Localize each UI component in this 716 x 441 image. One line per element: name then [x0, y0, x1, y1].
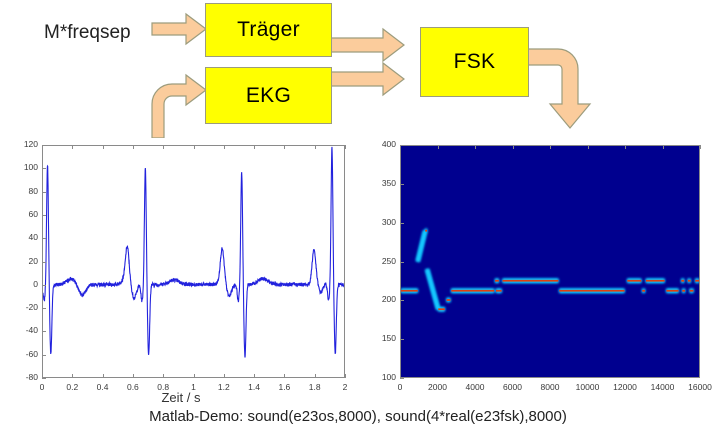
ecg-xtick-1: 1 [180, 382, 208, 392]
ecg-x-axis-title: Zeit / s [0, 390, 362, 405]
ecg-xtick-0.8: 0.8 [149, 382, 177, 392]
ecg-polyline [43, 147, 344, 358]
ecg-xtick-1.4: 1.4 [240, 382, 268, 392]
ecg-xtick-0.6: 0.6 [119, 382, 147, 392]
tick-mark [42, 355, 46, 356]
tick-mark [254, 374, 255, 378]
ecg-xtick-1.6: 1.6 [270, 382, 298, 392]
spectrogram-trace [401, 146, 699, 377]
tick-mark [103, 145, 104, 149]
spectrogram-plot-area [400, 145, 700, 378]
tick-mark [284, 374, 285, 378]
spec-xtick-10000: 10000 [570, 382, 606, 392]
tick-mark [72, 374, 73, 378]
block-diagram: M*freqsep Träger EKG FSK [0, 0, 716, 138]
tick-mark [700, 145, 701, 149]
ecg-ytick-0: 0 [6, 279, 38, 289]
spectrogram-figure: 4003503002502001501000200040006000800010… [372, 138, 716, 404]
ecg-xtick-1.8: 1.8 [301, 382, 329, 392]
tick-mark [194, 374, 195, 378]
spec-ytick-350: 350 [370, 178, 396, 188]
spec-xtick-0: 0 [382, 382, 418, 392]
tick-mark [400, 184, 404, 185]
tick-mark [400, 378, 404, 379]
tick-mark [194, 145, 195, 149]
tick-mark [42, 262, 46, 263]
spectrogram-halo [401, 231, 699, 310]
ecg-ytick--40: -40 [6, 325, 38, 335]
tick-mark [42, 145, 43, 149]
spec-ytick-200: 200 [370, 294, 396, 304]
tick-mark [284, 145, 285, 149]
arrow-input-traeger [152, 14, 206, 44]
ecg-ytick-40: 40 [6, 232, 38, 242]
ecg-ytick-100: 100 [6, 162, 38, 172]
tick-mark [475, 145, 476, 149]
spec-ytick-300: 300 [370, 217, 396, 227]
tick-mark [513, 145, 514, 149]
arrow-ekg-fsk [330, 63, 404, 95]
ecg-xtick-1.2: 1.2 [210, 382, 238, 392]
tick-mark [224, 145, 225, 149]
ecg-xtick-2: 2 [331, 382, 359, 392]
spec-xtick-16000: 16000 [682, 382, 716, 392]
spec-xtick-2000: 2000 [420, 382, 456, 392]
tick-mark [42, 331, 46, 332]
tick-mark [163, 374, 164, 378]
tick-mark [400, 145, 401, 149]
tick-mark [438, 145, 439, 149]
arrow-traeger-fsk [330, 29, 404, 61]
arrow-curved-ekg [152, 75, 206, 138]
ecg-ytick-120: 120 [6, 139, 38, 149]
spec-ytick-400: 400 [370, 139, 396, 149]
tick-mark [163, 145, 164, 149]
tick-mark [103, 374, 104, 378]
tick-mark [315, 374, 316, 378]
ecg-ytick--60: -60 [6, 349, 38, 359]
ecg-xtick-0.4: 0.4 [89, 382, 117, 392]
input-label: M*freqsep [44, 22, 131, 44]
spec-xtick-14000: 14000 [645, 382, 681, 392]
ecg-xtick-0: 0 [28, 382, 56, 392]
tick-mark [663, 145, 664, 149]
tick-mark [42, 215, 46, 216]
ecg-ytick-60: 60 [6, 209, 38, 219]
tick-mark [42, 374, 43, 378]
spec-ytick-250: 250 [370, 256, 396, 266]
tick-mark [42, 378, 46, 379]
tick-mark [345, 145, 346, 149]
ecg-ytick-80: 80 [6, 186, 38, 196]
diagram-arrows [0, 0, 716, 138]
tick-mark [400, 339, 404, 340]
ecg-figure: Zeit / s 120100806040200-20-40-60-8000.2… [0, 138, 362, 404]
tick-mark [400, 300, 404, 301]
tick-mark [588, 145, 589, 149]
ecg-ytick--20: -20 [6, 302, 38, 312]
ecg-trace [43, 146, 344, 377]
tick-mark [315, 145, 316, 149]
block-fsk[interactable]: FSK [420, 27, 529, 97]
caption-text: Matlab-Demo: sound(e23os,8000), sound(4*… [0, 408, 716, 425]
tick-mark [345, 374, 346, 378]
spec-xtick-12000: 12000 [607, 382, 643, 392]
tick-mark [72, 145, 73, 149]
tick-mark [42, 238, 46, 239]
tick-mark [400, 262, 404, 263]
arrow-fsk-output [527, 49, 590, 128]
spec-xtick-8000: 8000 [532, 382, 568, 392]
tick-mark [254, 145, 255, 149]
tick-mark [224, 374, 225, 378]
tick-mark [42, 285, 46, 286]
tick-mark [42, 192, 46, 193]
tick-mark [42, 168, 46, 169]
ecg-plot-area [42, 145, 345, 378]
tick-mark [42, 308, 46, 309]
spec-xtick-4000: 4000 [457, 382, 493, 392]
ecg-ytick-20: 20 [6, 256, 38, 266]
block-traeger[interactable]: Träger [205, 3, 332, 57]
tick-mark [400, 223, 404, 224]
tick-mark [133, 145, 134, 149]
tick-mark [133, 374, 134, 378]
tick-mark [550, 145, 551, 149]
spectrogram-core [401, 231, 699, 310]
spec-ytick-100: 100 [370, 372, 396, 382]
ecg-xtick-0.2: 0.2 [58, 382, 86, 392]
spec-ytick-150: 150 [370, 333, 396, 343]
ecg-ytick--80: -80 [6, 372, 38, 382]
block-ekg[interactable]: EKG [205, 67, 332, 124]
spec-xtick-6000: 6000 [495, 382, 531, 392]
tick-mark [625, 145, 626, 149]
